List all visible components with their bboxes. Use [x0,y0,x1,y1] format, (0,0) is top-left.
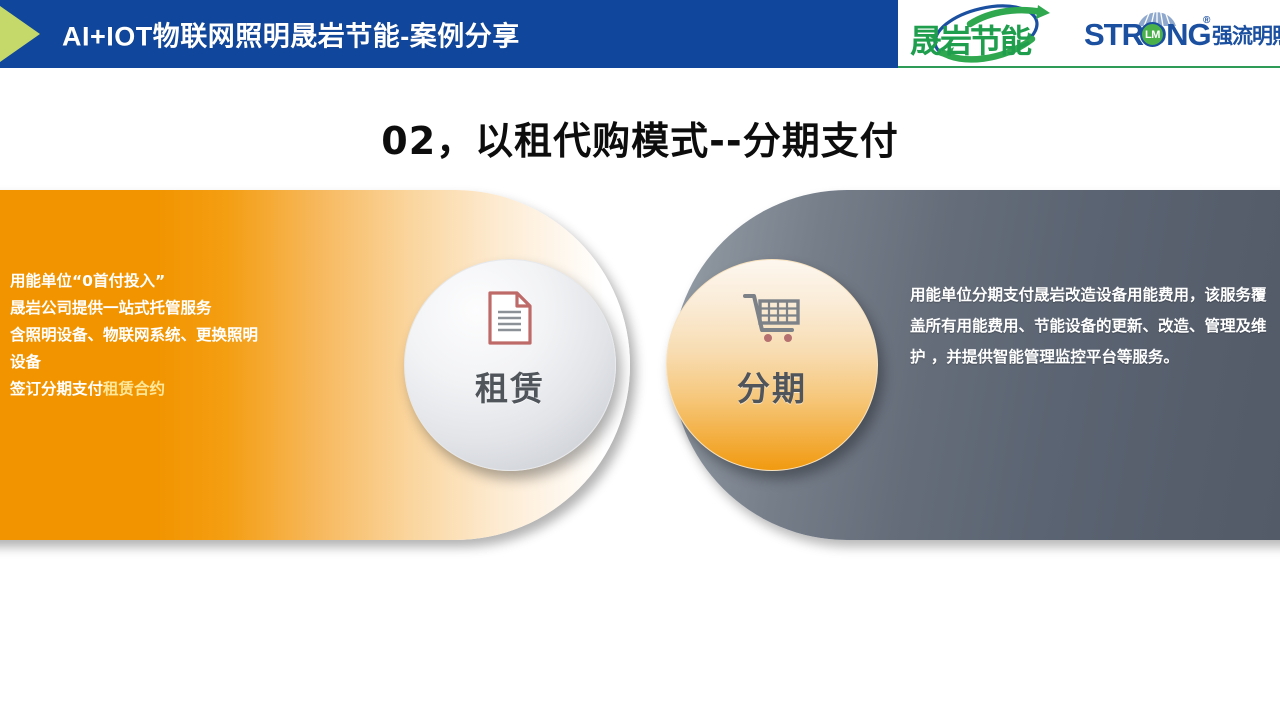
right-panel-text-block: 用能单位分期支付晟岩改造设备用能费用，该服务覆盖所有用能费用、节能设备的更新、改… [910,280,1270,373]
shengyan-logo: 晟岩节能 [908,3,1084,63]
left-text-line-2: 晟岩公司提供一站式托管服务 [10,295,320,322]
registered-mark: ® [1203,15,1210,26]
strong-logo-cn-text: 强流明照明 [1212,20,1280,50]
left-text-line-3: 含照明设备、物联网系统、更换照明 [10,322,320,349]
strong-logo-lm-badge: LM [1140,22,1165,47]
left-text-line-1: 用能单位“0首付投入” [10,268,320,295]
circle-installment[interactable]: 分期 [666,259,878,471]
left-text-line-5: 签订分期支付租赁合约 [10,376,320,403]
logo-panel: 晟岩节能 STRONG LM ® 强流明照明 [898,0,1280,68]
header-title: AI+IOT物联网照明晟岩节能-案例分享 [62,15,520,54]
circle-rent[interactable]: 租赁 [404,259,616,471]
strong-logo: STRONG LM ® 强流明照明 [1084,3,1276,63]
circle-rent-label: 租赁 [475,362,545,410]
shopping-cart-icon [743,288,801,348]
circle-installment-label: 分期 [737,362,807,410]
left-text-line-5-highlight: 租赁合约 [103,380,165,398]
slide-canvas: AI+IOT物联网照明晟岩节能-案例分享 晟岩节能 STRONG LM ® 强流… [0,0,1280,720]
shengyan-logo-text: 晟岩节能 [910,16,1030,62]
left-text-line-4: 设备 [10,349,320,376]
page-title: 02，以租代购模式--分期支付 [0,110,1280,165]
chevron-right-icon [0,0,44,68]
left-panel-text-block: 用能单位“0首付投入” 晟岩公司提供一站式托管服务 含照明设备、物联网系统、更换… [10,268,320,403]
left-text-line-5-plain: 签订分期支付 [10,380,103,398]
document-icon [487,288,533,348]
header-bar: AI+IOT物联网照明晟岩节能-案例分享 [0,0,898,68]
